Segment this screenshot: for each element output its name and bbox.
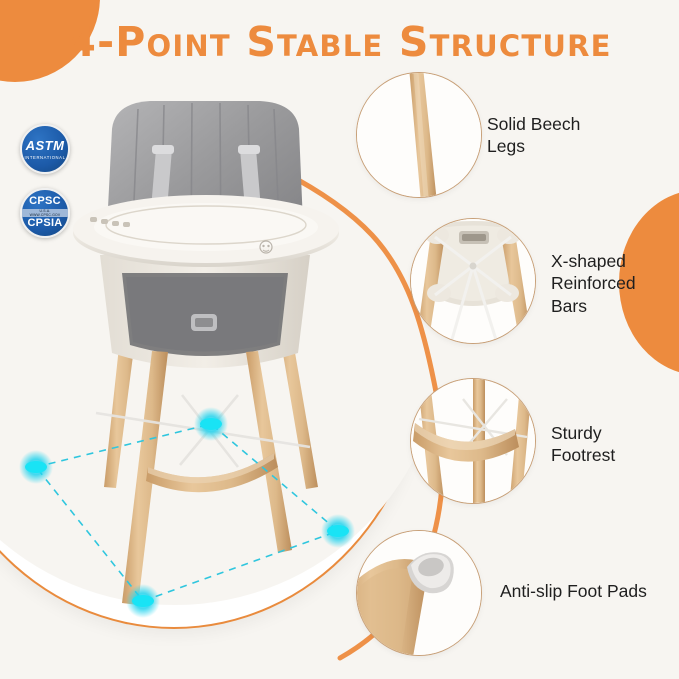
x-reinforcement-bars	[96, 395, 310, 467]
callout-anti-slip-foot-pads	[356, 530, 482, 656]
callout-label-x-shaped-bars: X-shaped Reinforced Bars	[551, 250, 636, 317]
cpsc-badge-sub: U.S.A. WWW.CPSC.GOV	[22, 209, 68, 217]
callout-sturdy-footrest	[410, 378, 536, 504]
page-title: 4-Point Stable Structure	[0, 18, 679, 66]
chair-seat-shell	[100, 255, 310, 368]
callout-solid-beech-legs	[356, 72, 482, 198]
chair-tray	[73, 195, 339, 267]
callout-label-solid-beech-legs: Solid Beech Legs	[487, 113, 580, 158]
cpsc-badge: CPSC U.S.A. WWW.CPSC.GOV CPSIA	[20, 188, 70, 238]
high-chair-illustration	[60, 95, 350, 625]
callout-image-beech-leg	[357, 73, 481, 197]
callout-label-anti-slip-foot-pads: Anti-slip Foot Pads	[500, 580, 647, 602]
infographic-canvas: 4-Point Stable Structure ASTM INTERNATIO…	[0, 0, 679, 679]
cpsia-badge-main: CPSIA	[27, 218, 62, 230]
astm-badge-sub: INTERNATIONAL	[25, 155, 66, 160]
astm-badge-main: ASTM	[26, 139, 65, 152]
cpsc-badge-main: CPSC	[29, 196, 61, 208]
callout-image-foot-pad	[357, 531, 481, 655]
callout-image-x-bars	[411, 219, 535, 343]
chair-footrest	[146, 453, 278, 492]
callout-label-sturdy-footrest: Sturdy Footrest	[551, 422, 615, 467]
callout-x-shaped-bars	[410, 218, 536, 344]
astm-badge: ASTM INTERNATIONAL	[20, 124, 70, 174]
callout-image-footrest	[411, 379, 535, 503]
